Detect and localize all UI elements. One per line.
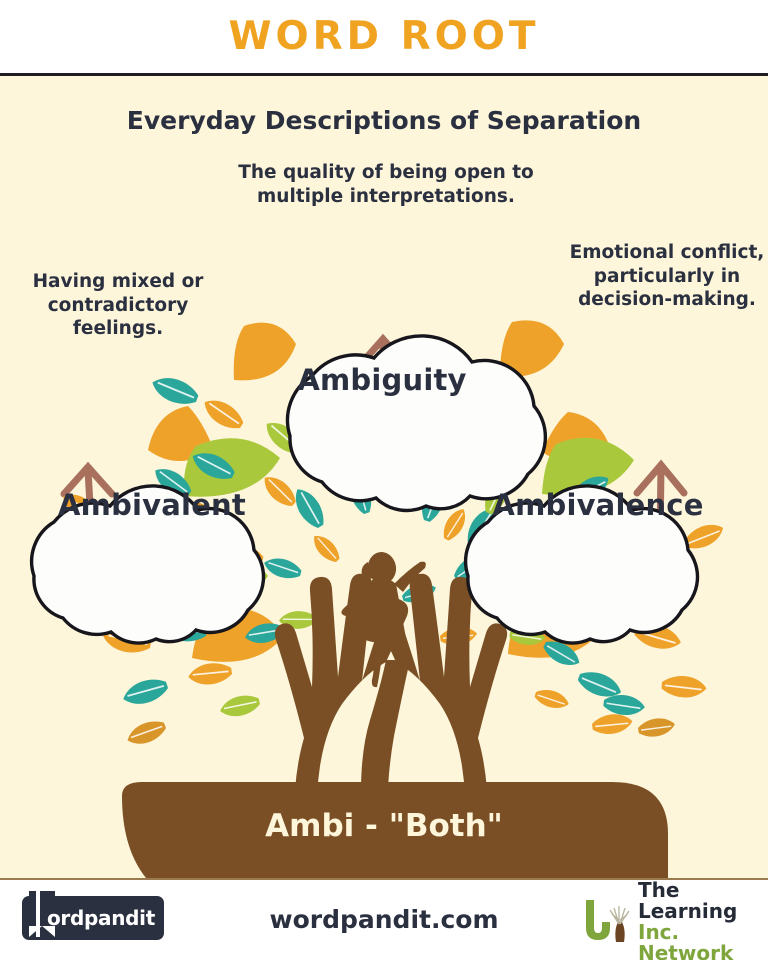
partner-line-1: The Learning	[638, 880, 754, 922]
footer-bar: ordpandit wordpandit.com The Learning In…	[0, 878, 768, 960]
partner-line-2: Inc. Network	[638, 922, 754, 960]
cloud-ambivalent	[32, 486, 264, 643]
page-title: WORD ROOT	[228, 14, 539, 59]
main-canvas: Everyday Descriptions of Separation The …	[0, 76, 768, 878]
infographic-poster: WORD ROOT Everyday Descriptions of Separ…	[0, 0, 768, 960]
tree-illustration	[0, 76, 768, 878]
wordpandit-logo-text: ordpandit	[47, 906, 155, 930]
header-bar: WORD ROOT	[0, 0, 768, 76]
learning-inc-network-text: The Learning Inc. Network	[638, 880, 754, 960]
root-banner	[122, 782, 668, 878]
u-tree-icon	[578, 896, 634, 948]
learning-inc-network-logo[interactable]: The Learning Inc. Network	[578, 894, 754, 950]
